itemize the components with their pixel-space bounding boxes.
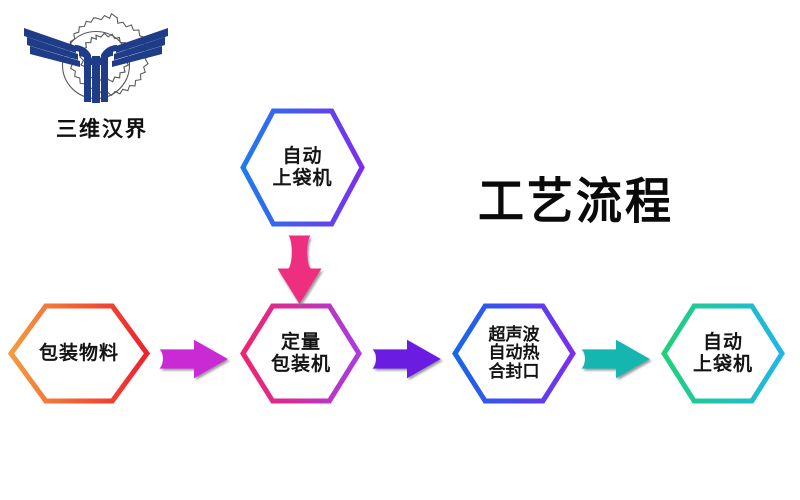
- arrow-right-icon-material-to-packer: [158, 335, 230, 383]
- arrow-down-icon-loader-to-packer: [272, 234, 327, 306]
- flow-node-quantitative-packer[interactable]: 定量包装机: [240, 303, 362, 404]
- brand-logo-block: 三维汉界: [16, 10, 196, 150]
- arrow-right-icon-sealer-to-loader: [580, 335, 652, 383]
- flow-node-auto-bag-loader-end[interactable]: 自动上袋机: [661, 303, 785, 404]
- flow-node-packaging-material[interactable]: 包装物料: [8, 303, 150, 404]
- flow-node-auto-bag-loader-top[interactable]: 自动上袋机: [240, 108, 365, 227]
- brand-wordmark: 三维汉界: [32, 113, 172, 143]
- gear-wings-logo-icon: [16, 10, 176, 115]
- flow-node-ultrasonic-heat-sealer[interactable]: 超声波自动热合封口: [452, 303, 576, 404]
- page-title: 工艺流程: [478, 163, 674, 233]
- arrow-right-icon-packer-to-sealer: [371, 335, 443, 383]
